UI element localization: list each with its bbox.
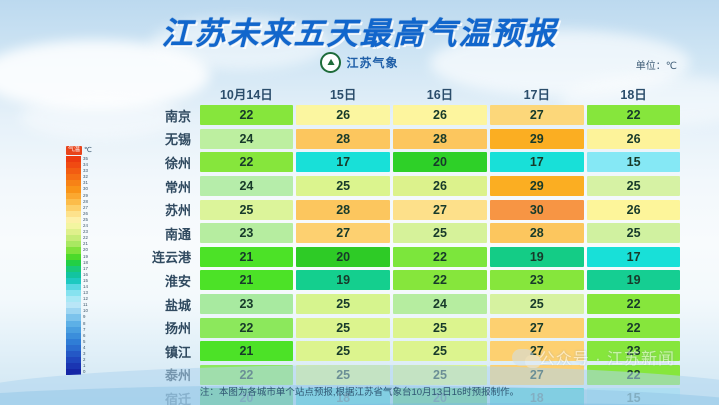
temperature-cell: 20	[296, 247, 390, 267]
city-label: 苏州	[136, 200, 198, 219]
table-row: 连云港2120221917	[136, 246, 682, 269]
temperature-cell: 27	[490, 105, 584, 125]
temperature-cell: 28	[296, 200, 390, 220]
date-column-header: 10月14日	[198, 84, 295, 103]
temperature-cell: 22	[393, 247, 487, 267]
table-row: 常州2425262925	[136, 175, 682, 198]
temperature-cell: 17	[490, 152, 584, 172]
temperature-cell: 25	[200, 200, 294, 220]
legend-color-bar	[66, 156, 81, 375]
temperature-cell: 25	[296, 176, 390, 196]
temperature-cell: 28	[296, 129, 390, 149]
city-label: 盐城	[136, 295, 198, 314]
city-label: 扬州	[136, 318, 198, 337]
temperature-cell: 25	[393, 341, 487, 361]
temperature-cell: 22	[393, 270, 487, 290]
temperature-cell: 26	[587, 129, 681, 149]
temperature-cell: 19	[296, 270, 390, 290]
temperature-cell: 26	[296, 105, 390, 125]
temperature-cell: 27	[393, 200, 487, 220]
date-column-header: 16日	[392, 84, 489, 103]
table-row: 南通2327252825	[136, 222, 682, 245]
temperature-cell: 29	[490, 176, 584, 196]
city-label: 无锡	[136, 129, 198, 148]
city-label: 南通	[136, 224, 198, 243]
table-row: 无锡2428282926	[136, 128, 682, 151]
temperature-cell: 25	[296, 341, 390, 361]
forecast-infographic: 江苏未来五天最高气温预报 ⛰ 江苏气象 单位：℃ 气温 ℃ 3534333231…	[0, 0, 719, 405]
temperature-cell: 22	[200, 105, 294, 125]
temperature-cell: 27	[490, 341, 584, 361]
temperature-cell: 27	[490, 318, 584, 338]
city-label: 连云港	[136, 247, 198, 266]
footer-note: 注：本图为各城市单个站点预报,根据江苏省气象台10月13日16时预报制作。	[0, 384, 719, 398]
city-label: 淮安	[136, 271, 198, 290]
temperature-cell: 23	[587, 341, 681, 361]
org-logo: ⛰ 江苏气象	[0, 52, 719, 73]
temperature-cell: 21	[200, 341, 294, 361]
legend-tick-labels: 3534333231302928272625242322212019181716…	[83, 156, 88, 375]
temperature-cell: 30	[490, 200, 584, 220]
temperature-cell: 22	[587, 105, 681, 125]
temperature-cell: 22	[587, 294, 681, 314]
table-row: 扬州2225252722	[136, 316, 682, 339]
city-label: 南京	[136, 106, 198, 125]
weather-bureau-logo-icon: ⛰	[320, 52, 341, 73]
table-row: 苏州2528273026	[136, 198, 682, 221]
temperature-cell: 26	[393, 176, 487, 196]
temperature-cell: 26	[587, 200, 681, 220]
temperature-cell: 27	[296, 223, 390, 243]
temperature-cell: 23	[200, 294, 294, 314]
unit-label: 单位：℃	[636, 57, 677, 72]
table-row: 徐州2217201715	[136, 151, 682, 174]
org-logo-label: 江苏气象	[346, 54, 398, 71]
page-title: 江苏未来五天最高气温预报	[0, 8, 719, 53]
table-row: 盐城2325242522	[136, 293, 682, 316]
city-label: 镇江	[136, 342, 198, 361]
table-body: 南京2226262722无锡2428282926徐州2217201715常州24…	[136, 104, 682, 405]
temperature-cell: 25	[393, 318, 487, 338]
table-header-row: 10月14日15日16日17日18日	[136, 82, 682, 104]
temperature-cell: 24	[393, 294, 487, 314]
temperature-cell: 25	[587, 223, 681, 243]
city-label: 常州	[136, 177, 198, 196]
table-row: 镇江2125252723	[136, 340, 682, 363]
temperature-cell: 17	[587, 247, 681, 267]
temperature-cell: 22	[587, 318, 681, 338]
temperature-cell: 21	[200, 247, 294, 267]
temperature-cell: 23	[200, 223, 294, 243]
table-row: 淮安2119222319	[136, 269, 682, 292]
temperature-cell: 15	[587, 152, 681, 172]
temperature-cell: 20	[393, 152, 487, 172]
legend-body: 3534333231302928272625242322212019181716…	[66, 156, 110, 375]
temperature-cell: 24	[200, 129, 294, 149]
temperature-cell: 28	[393, 129, 487, 149]
temperature-cell: 24	[200, 176, 294, 196]
date-column-header: 15日	[295, 84, 392, 103]
temperature-cell: 25	[296, 318, 390, 338]
temperature-cell: 25	[393, 223, 487, 243]
temperature-cell: 19	[490, 247, 584, 267]
city-label: 徐州	[136, 153, 198, 172]
date-column-header: 17日	[488, 84, 585, 103]
legend-unit: ℃	[84, 146, 92, 155]
forecast-table: 10月14日15日16日17日18日 南京2226262722无锡2428282…	[136, 82, 682, 405]
date-column-header: 18日	[585, 84, 682, 103]
temperature-cell: 21	[200, 270, 294, 290]
temperature-cell: 29	[490, 129, 584, 149]
temperature-cell: 22	[200, 152, 294, 172]
temperature-cell: 17	[296, 152, 390, 172]
temperature-cell: 28	[490, 223, 584, 243]
table-row: 南京2226262722	[136, 104, 682, 127]
temperature-cell: 25	[296, 294, 390, 314]
temperature-cell: 19	[587, 270, 681, 290]
temperature-cell: 22	[200, 318, 294, 338]
temperature-cell: 25	[490, 294, 584, 314]
temperature-cell: 26	[393, 105, 487, 125]
temperature-cell: 25	[587, 176, 681, 196]
legend-title: 气温	[66, 146, 82, 155]
legend-header: 气温 ℃	[66, 144, 110, 155]
temperature-legend: 气温 ℃ 35343332313029282726252423222120191…	[66, 144, 110, 375]
temperature-cell: 23	[490, 270, 584, 290]
